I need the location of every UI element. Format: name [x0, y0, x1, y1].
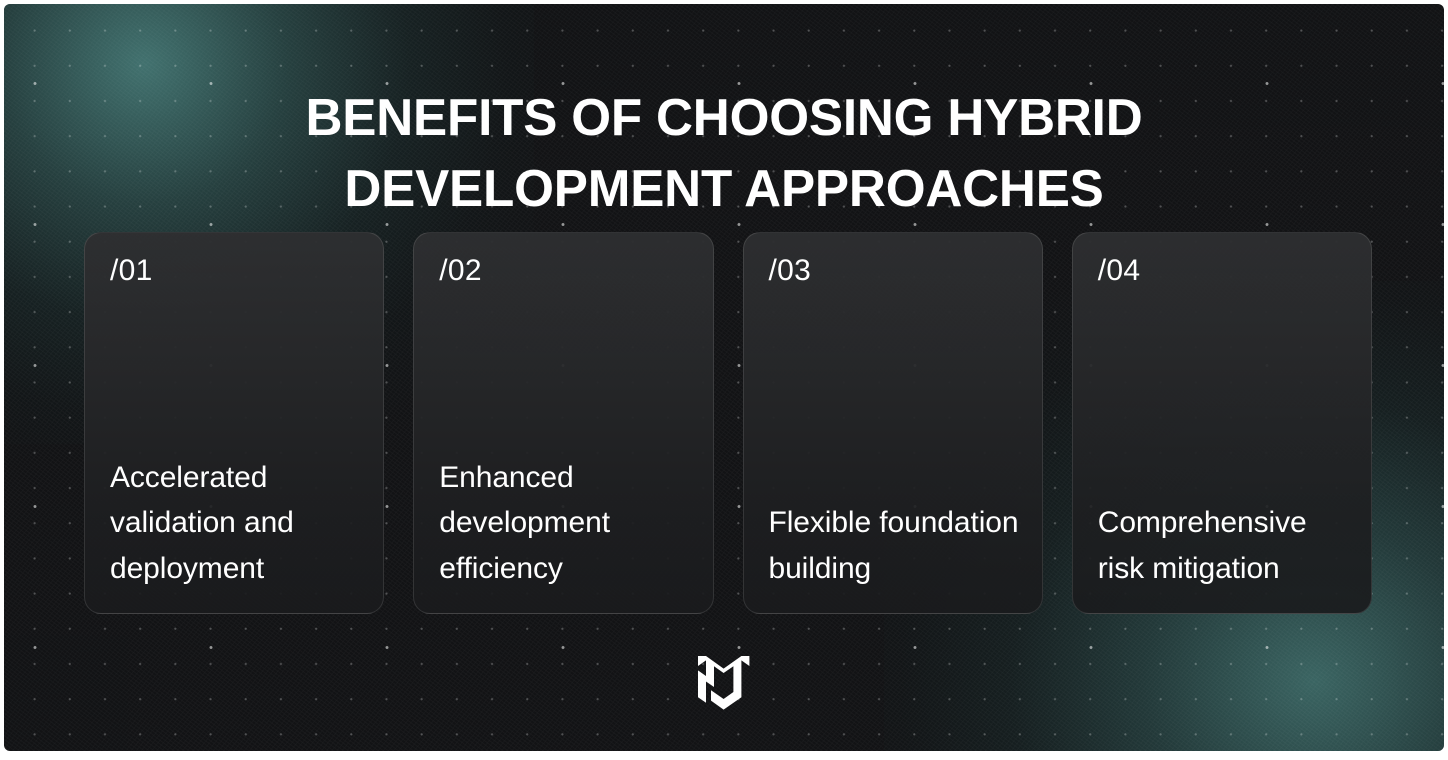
benefit-card-02[interactable]: /02 Enhanced development efficiency	[413, 232, 713, 614]
card-text: Flexible foundation building	[769, 500, 1026, 591]
benefit-card-04[interactable]: /04 Comprehensive risk mitigation	[1072, 232, 1372, 614]
slide-canvas: BENEFITS OF CHOOSING HYBRID DEVELOPMENT …	[4, 4, 1444, 751]
benefit-card-03[interactable]: /03 Flexible foundation building	[743, 232, 1043, 614]
card-number: /04	[1098, 254, 1141, 288]
ms-monogram-logo-icon	[696, 654, 752, 714]
card-text: Accelerated validation and deployment	[110, 455, 367, 592]
card-number: /02	[439, 254, 482, 288]
card-number: /01	[110, 254, 153, 288]
benefit-card-01[interactable]: /01 Accelerated validation and deploymen…	[84, 232, 384, 614]
slide-content: BENEFITS OF CHOOSING HYBRID DEVELOPMENT …	[4, 4, 1444, 751]
card-text: Comprehensive risk mitigation	[1098, 500, 1355, 591]
card-text: Enhanced development efficiency	[439, 455, 696, 592]
card-number: /03	[769, 254, 812, 288]
benefit-card-list: /01 Accelerated validation and deploymen…	[84, 232, 1372, 614]
page-title: BENEFITS OF CHOOSING HYBRID DEVELOPMENT …	[15, 83, 1433, 225]
